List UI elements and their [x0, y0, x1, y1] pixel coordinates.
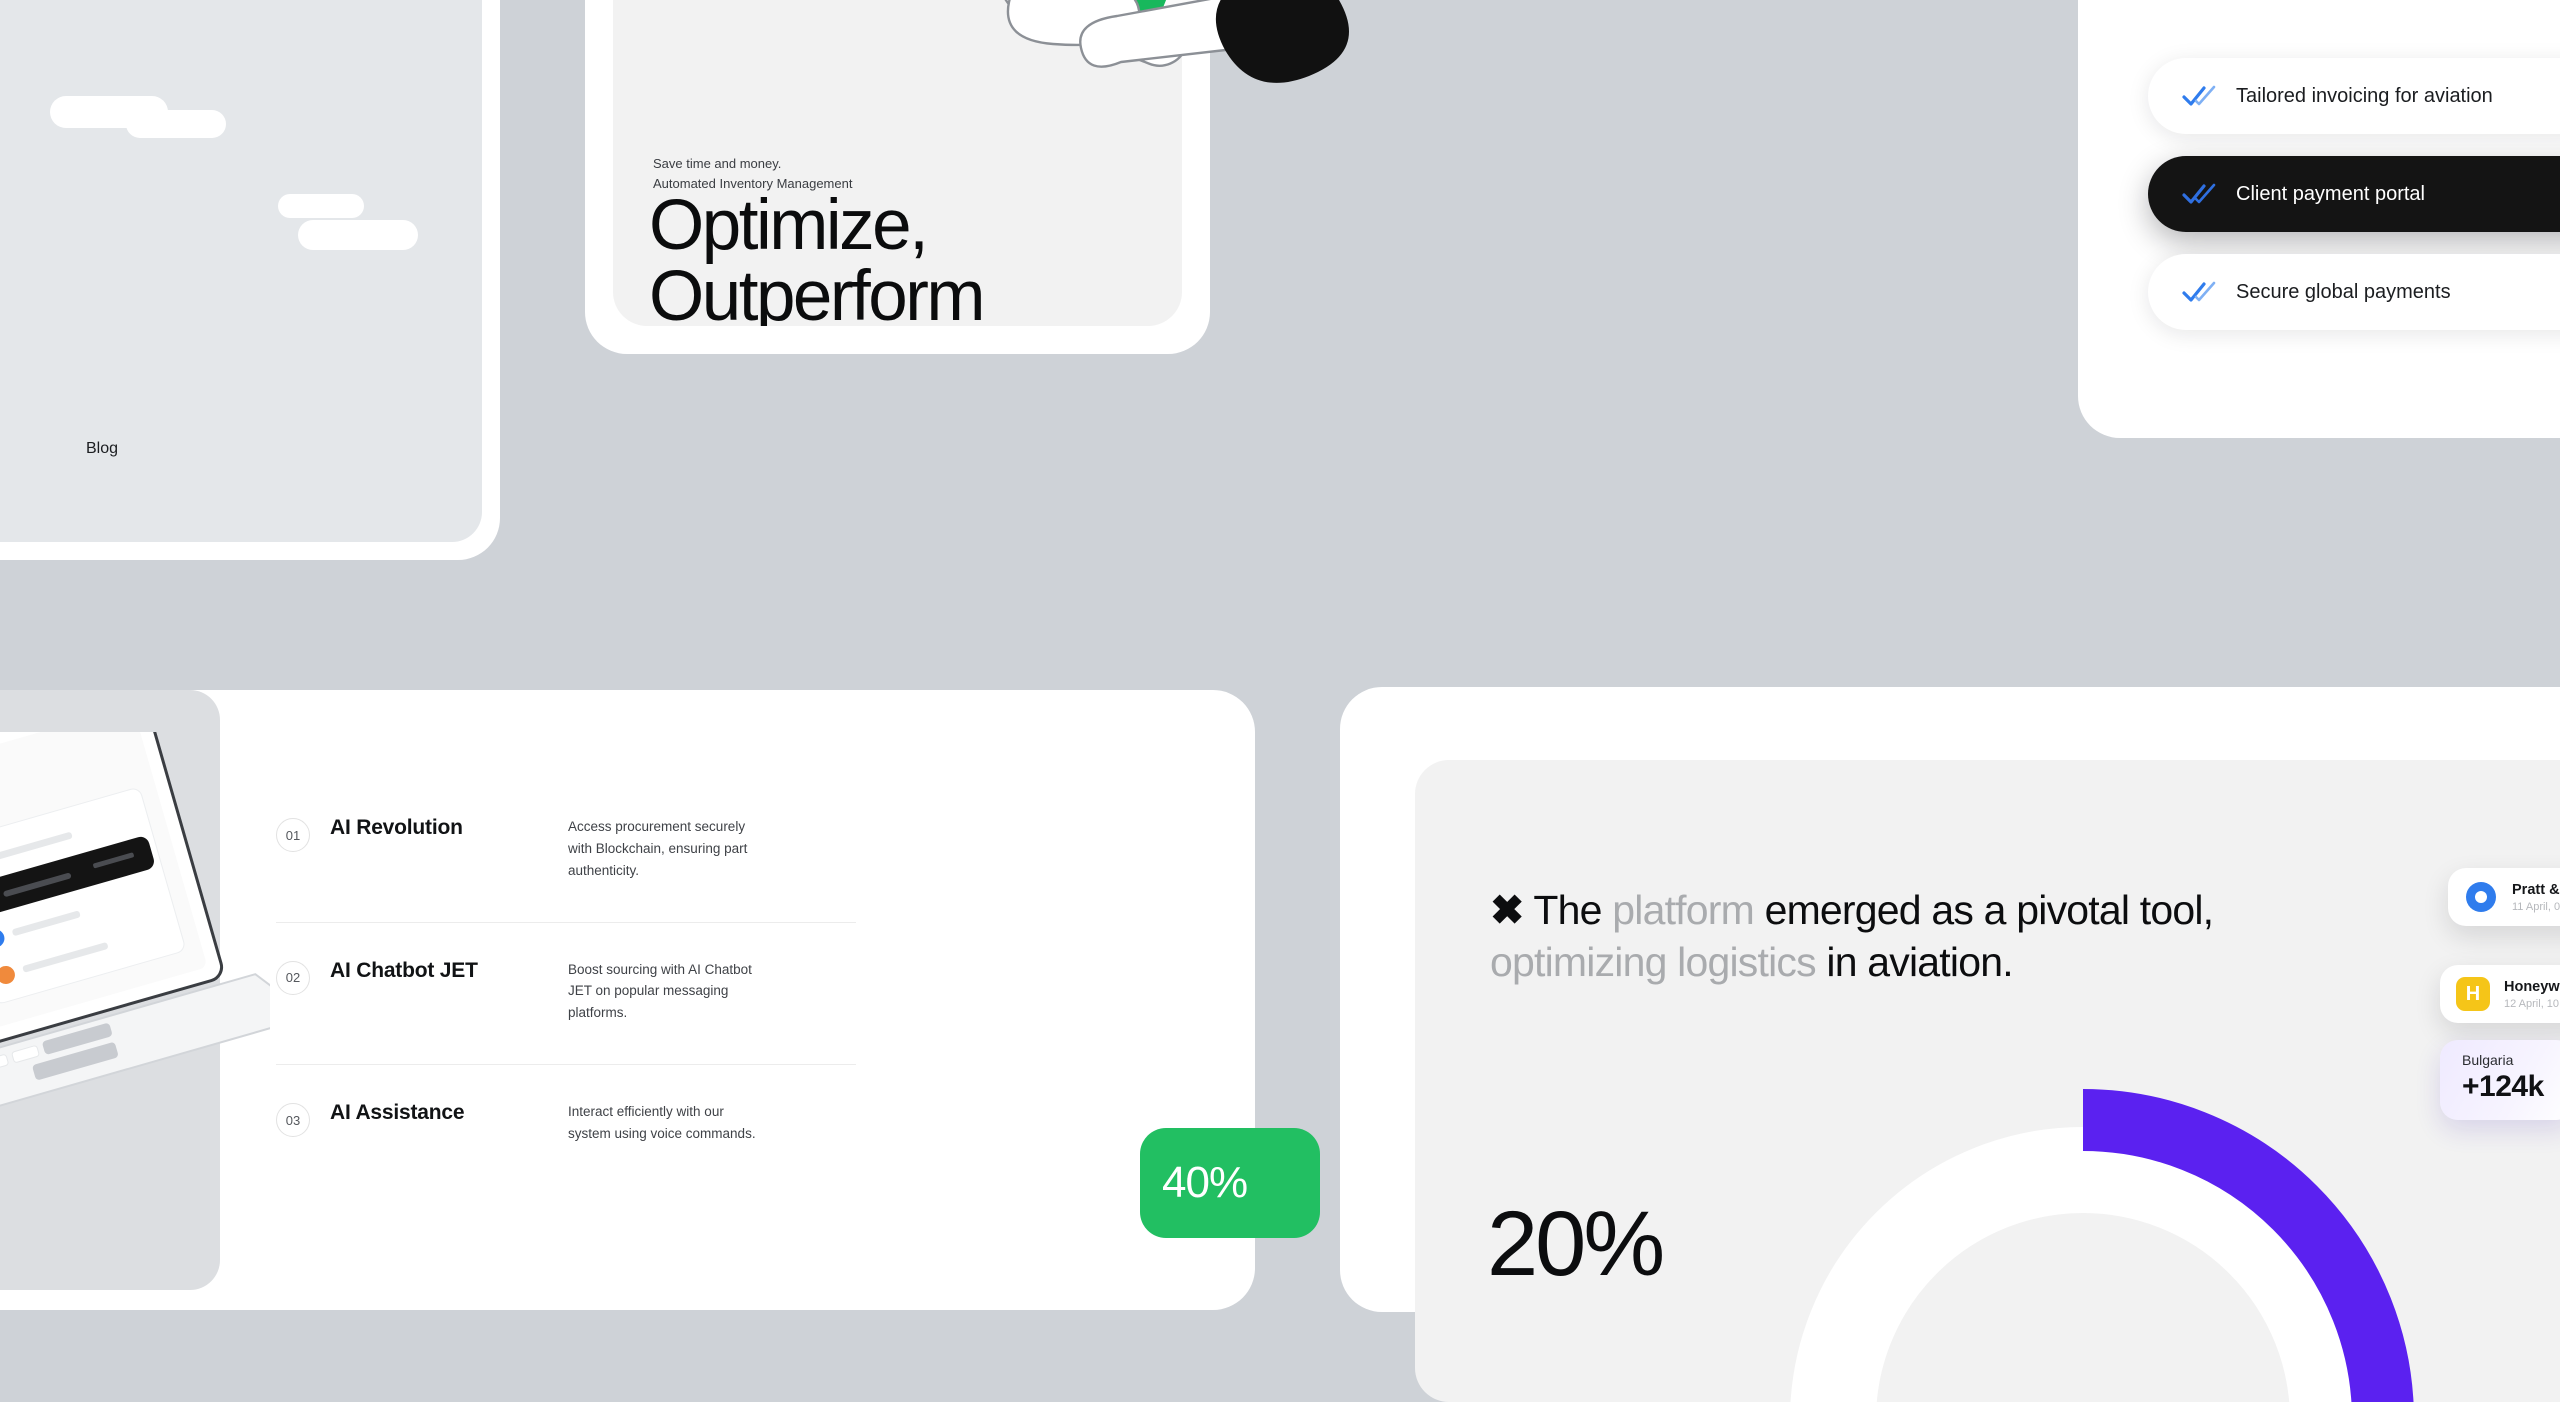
feature-number: 03: [276, 1103, 310, 1137]
mini-card-honeywell[interactable]: H Honeywell Aerospace 12 April, 10:32 AM: [2440, 965, 2560, 1023]
page-canvas: ts, es. About Blog Save time and money. …: [0, 0, 2560, 1270]
double-check-icon: [2182, 183, 2216, 205]
feature-row[interactable]: 03 AI Assistance Interact efficiently wi…: [276, 1065, 856, 1185]
feature-description: Interact efficiently with our system usi…: [568, 1101, 764, 1145]
checklist-stack: Tailored invoicing for aviation Client p…: [2148, 58, 2560, 352]
nav-link-blog[interactable]: Blog: [86, 440, 118, 458]
checklist-chip-payment-portal[interactable]: Client payment portal: [2148, 156, 2560, 232]
letter-h-icon: H: [2456, 977, 2490, 1011]
feature-number: 01: [276, 818, 310, 852]
chip-label: Tailored invoicing for aviation: [2236, 85, 2493, 108]
feature-description: Boost sourcing with AI Chatbot JET on po…: [568, 959, 764, 1025]
features-card: Automate sourcing, upload, receive globa…: [0, 690, 1255, 1310]
mini-card-timestamp: 11 April, 09:12 AM: [2512, 901, 2560, 913]
region-label: Bulgaria: [2462, 1052, 2544, 1068]
double-check-icon: [2182, 85, 2216, 107]
cloud-icon: [298, 220, 418, 250]
chip-label: Secure global payments: [2236, 281, 2451, 304]
double-check-icon: [2182, 281, 2216, 303]
quote-segment: emerged as a pivotal tool,: [1754, 887, 2213, 933]
feature-title: AI Assistance: [330, 1101, 568, 1125]
nav-link-about[interactable]: About: [0, 440, 86, 458]
checklist-chip-global-payments[interactable]: Secure global payments: [2148, 254, 2560, 330]
mini-card-name: Pratt & Whitney: [2512, 882, 2560, 898]
feature-number: 02: [276, 961, 310, 995]
ring-icon: [2464, 880, 2498, 914]
mini-card-pratt-whitney[interactable]: Pratt & Whitney 11 April, 09:12 AM: [2448, 868, 2560, 926]
optimize-card: Save time and money. Automated Inventory…: [585, 0, 1210, 354]
quote-panel: ✖ The platform emerged as a pivotal tool…: [1415, 760, 2560, 1402]
quote-segment: The: [1524, 887, 1613, 933]
chip-label: Client payment portal: [2236, 183, 2425, 206]
phone-in-hand-illustration: Automate sourcing, upload, receive globa…: [885, 0, 1445, 264]
region-value: +124k: [2462, 1070, 2544, 1104]
donut-chart: [1733, 1070, 2433, 1402]
stat-badge-40: 40%: [1140, 1128, 1320, 1238]
feature-title: AI Chatbot JET: [330, 959, 568, 983]
quote-segment-muted: optimizing logistics: [1490, 939, 1816, 985]
cloud-icon: [126, 110, 226, 138]
laptop-mockup-panel: Automate sourcing, upload, receive globa…: [0, 690, 220, 1290]
hero-sky-panel: ts, es. About Blog: [0, 0, 482, 542]
quote-marker: ✖: [1490, 887, 1524, 933]
feature-row[interactable]: 02 AI Chatbot JET Boost sourcing with AI…: [276, 923, 856, 1066]
hero-nav: About Blog: [0, 440, 482, 458]
quote-segment-muted: platform: [1612, 887, 1754, 933]
feature-title: AI Revolution: [330, 816, 568, 840]
cloud-icon: [278, 194, 364, 218]
laptop-dashboard-illustration: Automate sourcing, upload, receive globa…: [0, 732, 220, 1252]
hero-card: ts, es. About Blog: [0, 0, 500, 560]
mini-card-timestamp: 12 April, 10:32 AM: [2504, 998, 2560, 1010]
quote-text: ✖ The platform emerged as a pivotal tool…: [1490, 885, 2230, 988]
feature-list: 01 AI Revolution Access procurement secu…: [276, 780, 856, 1185]
checklist-chip-invoicing[interactable]: Tailored invoicing for aviation: [2148, 58, 2560, 134]
stat-20-percent: 20%: [1487, 1198, 1662, 1290]
mini-card-name: Honeywell Aerospace: [2504, 979, 2560, 995]
feature-row[interactable]: 01 AI Revolution Access procurement secu…: [276, 780, 856, 923]
feature-description: Access procurement securely with Blockch…: [568, 816, 764, 882]
checklist-card: Tailored invoicing for aviation Client p…: [2078, 0, 2560, 438]
quote-segment: in aviation.: [1816, 939, 2013, 985]
region-stat-card[interactable]: Bulgaria +124k: [2440, 1040, 2560, 1120]
quote-card: ✖ The platform emerged as a pivotal tool…: [1340, 687, 2560, 1312]
